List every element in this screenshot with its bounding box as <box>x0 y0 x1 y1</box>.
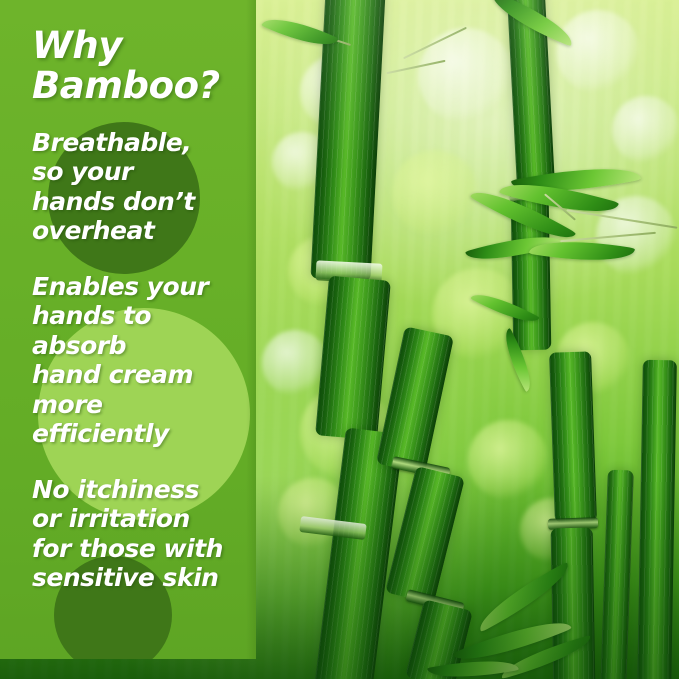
benefit-sensitive: No itchiness or irritation for those wit… <box>32 475 247 593</box>
page-title: Why Bamboo? <box>32 26 256 106</box>
bamboo-benefits-poster: Why Bamboo? Breathable, so your hands do… <box>0 0 679 679</box>
benefit-breathable: Breathable, so your hands don’t overheat <box>32 128 247 246</box>
benefits-panel: Why Bamboo? Breathable, so your hands do… <box>0 0 256 659</box>
benefit-absorb: Enables your hands to absorb hand cream … <box>32 272 247 449</box>
panel-content: Why Bamboo? Breathable, so your hands do… <box>0 0 256 593</box>
